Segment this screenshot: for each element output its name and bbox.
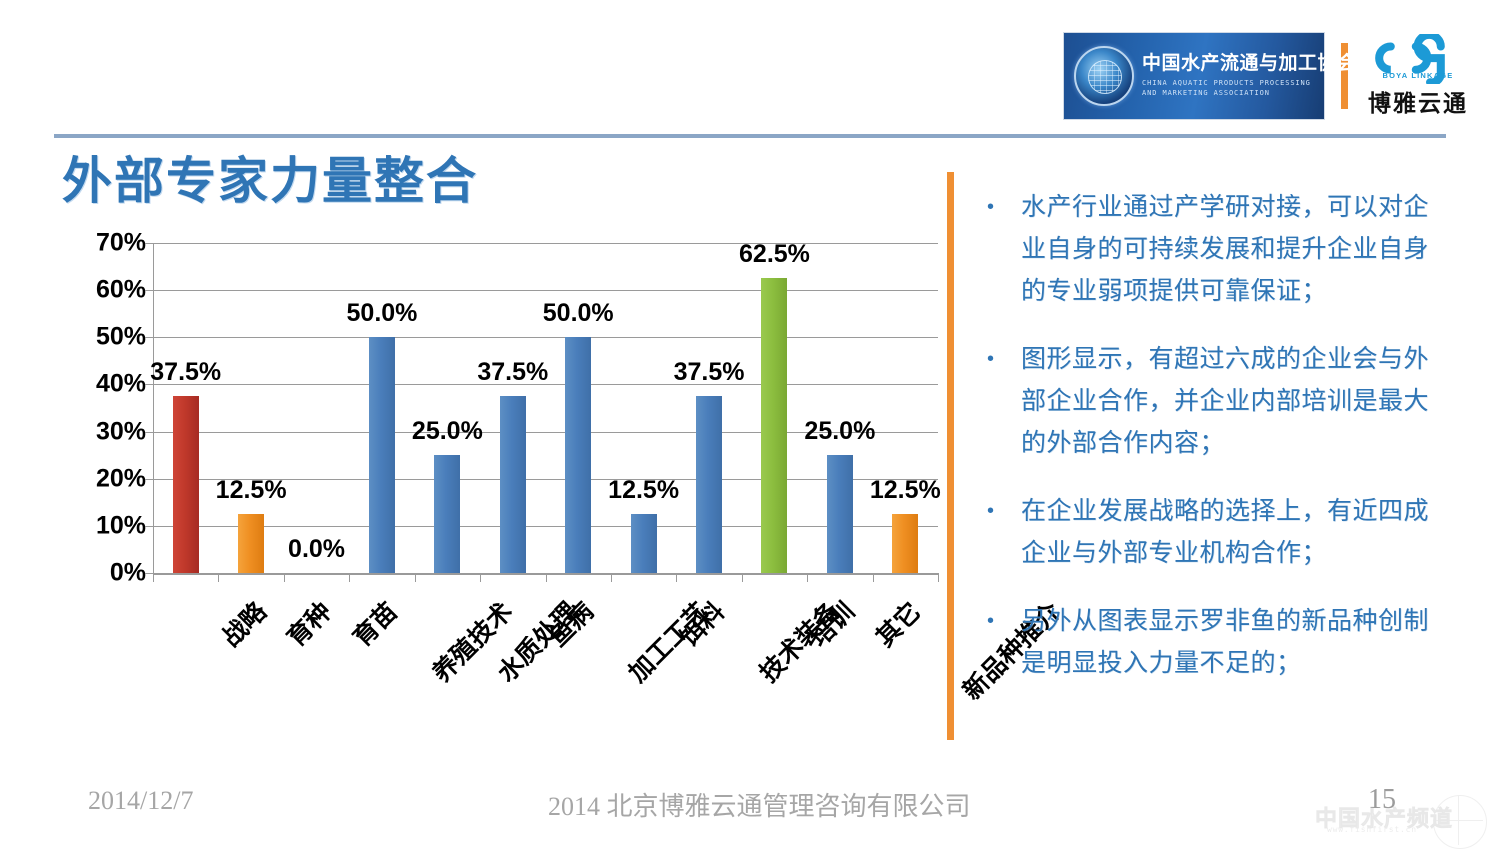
boya-logo: BOYA LINKAGE 博雅云通 xyxy=(1362,34,1474,118)
chart-bar xyxy=(238,514,264,573)
cappma-name-en: CHINA AQUATIC PRODUCTS PROCESSING AND MA… xyxy=(1142,78,1357,98)
bullet-text: 在企业发展战略的选择上，有近四成企业与外部专业机构合作； xyxy=(1021,490,1430,574)
y-axis-tick xyxy=(145,479,153,480)
bar-value-label: 12.5% xyxy=(216,476,287,505)
y-axis-tick-label: 10% xyxy=(96,511,146,540)
bar-value-label: 25.0% xyxy=(412,417,483,446)
bar-value-label: 50.0% xyxy=(543,299,614,328)
footer-date: 2014/12/7 xyxy=(88,786,193,816)
y-axis-tick xyxy=(145,432,153,433)
x-axis-tick xyxy=(742,573,743,582)
x-axis-tick xyxy=(873,573,874,582)
y-axis-tick-label: 40% xyxy=(96,370,146,399)
x-axis-category-label: 育种 xyxy=(278,593,339,654)
footer-company: 2014 北京博雅云通管理咨询有限公司 xyxy=(548,786,971,823)
x-axis-tick xyxy=(611,573,612,582)
y-axis-tick xyxy=(145,337,153,338)
bullet-list: •水产行业通过产学研对接，可以对企业自身的可持续发展和提升企业自身的专业弱项提供… xyxy=(975,186,1430,710)
bar-value-label: 12.5% xyxy=(608,476,679,505)
bullet-marker-icon: • xyxy=(975,186,1021,312)
y-axis-tick-label: 50% xyxy=(96,323,146,352)
slide-root: 中国水产流通与加工协会 CHINA AQUATIC PRODUCTS PROCE… xyxy=(0,0,1500,844)
bar-value-label: 37.5% xyxy=(150,358,221,387)
gridline xyxy=(153,337,938,338)
bar-value-label: 25.0% xyxy=(804,417,875,446)
bullet-item: •在企业发展战略的选择上，有近四成企业与外部专业机构合作； xyxy=(975,490,1430,574)
y-axis-tick-label: 0% xyxy=(110,559,146,588)
cappma-logo: 中国水产流通与加工协会 CHINA AQUATIC PRODUCTS PROCE… xyxy=(1063,32,1325,120)
chart-plot-area: 37.5%12.5%0.0%50.0%25.0%37.5%50.0%12.5%3… xyxy=(153,243,938,573)
page-title: 外部专家力量整合 xyxy=(62,141,478,213)
cappma-name-en-line1: CHINA AQUATIC PRODUCTS PROCESSING xyxy=(1142,78,1357,88)
bar-value-label: 37.5% xyxy=(477,358,548,387)
x-axis-tick xyxy=(480,573,481,582)
y-axis-tick-label: 70% xyxy=(96,229,146,258)
cappma-name-en-line2: AND MARKETING ASSOCIATION xyxy=(1142,88,1357,98)
bullet-item: •另外从图表显示罗非鱼的新品种创制是明显投入力量不足的； xyxy=(975,600,1430,684)
y-axis-labels: 70%60%50%40%30%20%10%0% xyxy=(60,243,146,573)
y-axis-tick-label: 60% xyxy=(96,276,146,305)
chart-bar xyxy=(369,337,395,573)
chart-bar xyxy=(565,337,591,573)
boya-logo-cn: 博雅云通 xyxy=(1362,84,1474,118)
y-axis-tick xyxy=(145,526,153,527)
x-axis-tick xyxy=(546,573,547,582)
x-axis-tick xyxy=(284,573,285,582)
boya-logo-en: BOYA LINKAGE xyxy=(1362,71,1474,80)
chart-bar xyxy=(434,455,460,573)
cappma-name-cn: 中国水产流通与加工协会 xyxy=(1142,54,1357,73)
bar-value-label: 12.5% xyxy=(870,476,941,505)
x-axis-tick xyxy=(415,573,416,582)
bullet-text: 图形显示，有超过六成的企业会与外部企业合作，并企业内部培训是最大的外部合作内容； xyxy=(1021,338,1430,464)
bullet-marker-icon: • xyxy=(975,600,1021,684)
globe-emblem-icon xyxy=(1074,46,1134,106)
bar-value-label: 50.0% xyxy=(347,299,418,328)
bullet-item: •图形显示，有超过六成的企业会与外部企业合作，并企业内部培训是最大的外部合作内容… xyxy=(975,338,1430,464)
bullet-text: 水产行业通过产学研对接，可以对企业自身的可持续发展和提升企业自身的专业弱项提供可… xyxy=(1021,186,1430,312)
x-axis-tick xyxy=(807,573,808,582)
chart-bar xyxy=(173,396,199,573)
y-axis-tick-label: 30% xyxy=(96,417,146,446)
bullet-marker-icon: • xyxy=(975,490,1021,574)
chart-bar xyxy=(500,396,526,573)
y-axis-line xyxy=(153,243,154,573)
title-divider xyxy=(54,134,1446,138)
bar-value-label: 0.0% xyxy=(288,535,345,564)
bullet-item: •水产行业通过产学研对接，可以对企业自身的可持续发展和提升企业自身的专业弱项提供… xyxy=(975,186,1430,312)
chart-bar xyxy=(761,278,787,573)
y-axis-tick-label: 20% xyxy=(96,464,146,493)
bar-value-label: 62.5% xyxy=(739,240,810,269)
watermark-url: www.fishfirst.cn xyxy=(1327,825,1417,834)
x-axis-tick xyxy=(938,573,939,582)
chart-bar xyxy=(696,396,722,573)
y-axis-tick xyxy=(145,290,153,291)
chart-bar xyxy=(631,514,657,573)
x-axis-tick xyxy=(153,573,154,582)
y-axis-tick xyxy=(145,573,153,574)
bar-chart: 70%60%50%40%30%20%10%0% 37.5%12.5%0.0%50… xyxy=(60,230,945,750)
header-logo-bar: 中国水产流通与加工协会 CHINA AQUATIC PRODUCTS PROCE… xyxy=(1063,24,1483,128)
x-axis-category-label: 其它 xyxy=(867,593,928,654)
x-axis-category-label: 育苗 xyxy=(343,593,404,654)
x-axis-tick xyxy=(218,573,219,582)
bullet-marker-icon: • xyxy=(975,338,1021,464)
bullet-text: 另外从图表显示罗非鱼的新品种创制是明显投入力量不足的； xyxy=(1021,600,1430,684)
chart-bar xyxy=(892,514,918,573)
chart-bar xyxy=(827,455,853,573)
x-axis-tick xyxy=(676,573,677,582)
gridline xyxy=(153,290,938,291)
y-axis-tick xyxy=(145,243,153,244)
gridline xyxy=(153,526,938,527)
x-axis-category-label: 战略 xyxy=(212,593,273,654)
gridline xyxy=(153,243,938,244)
x-axis-tick xyxy=(349,573,350,582)
cappma-logo-text: 中国水产流通与加工协会 CHINA AQUATIC PRODUCTS PROCE… xyxy=(1142,54,1357,98)
bar-value-label: 37.5% xyxy=(674,358,745,387)
vertical-divider xyxy=(947,172,954,740)
watermark: 中国水产频道 www.fishfirst.cn xyxy=(1305,795,1495,843)
